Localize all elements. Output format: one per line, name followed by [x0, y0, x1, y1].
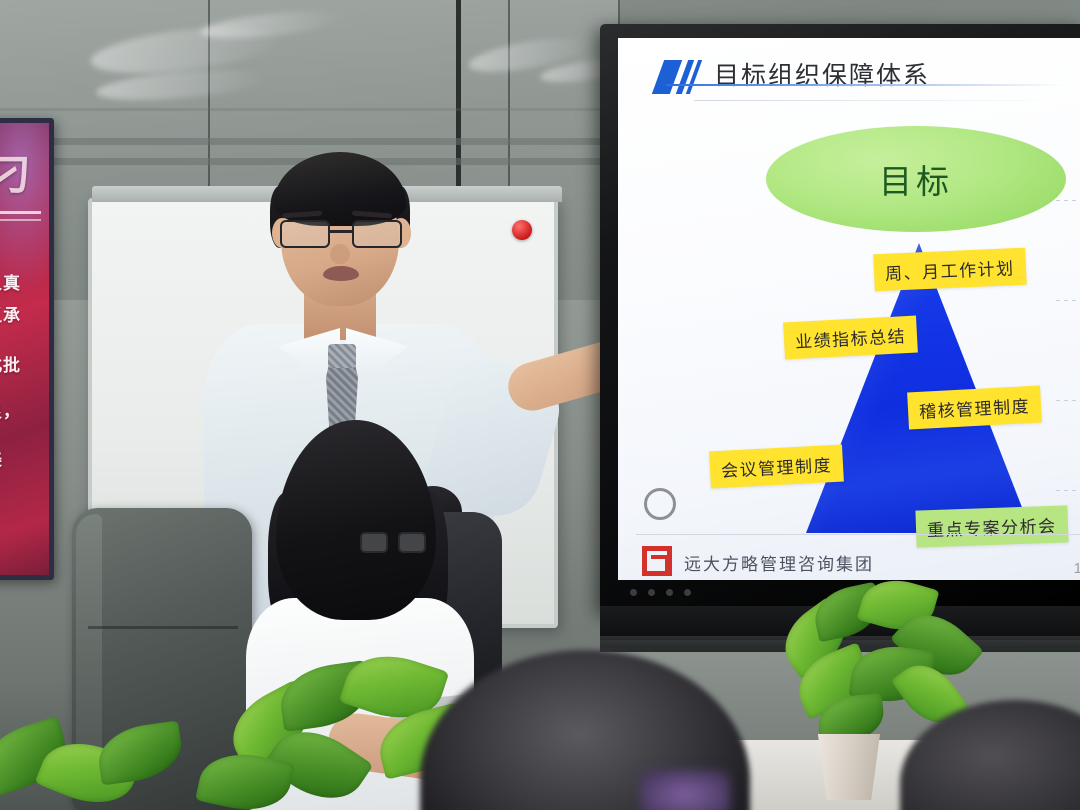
ghost-guide-line: [1056, 490, 1080, 491]
slash-logo-icon: [658, 60, 702, 94]
tag-key-case-analysis-meeting: 重点专案分析会: [915, 505, 1068, 547]
plant-far-left: [0, 722, 180, 810]
eyeglass-lens: [280, 220, 330, 248]
slide-header: 目标组织保障体系: [658, 54, 1068, 106]
presenter-nose: [330, 244, 350, 264]
interactive-smart-display[interactable]: 目标组织保障体系 目标 周、月工作计划 业绩指标总结 稽核管理制度 会议管理制度…: [600, 24, 1080, 612]
ghost-guide-line: [1056, 200, 1080, 201]
chair-seam: [88, 626, 238, 629]
company-name: 远大方略管理咨询集团: [684, 550, 874, 575]
goal-label: 目标: [879, 155, 953, 203]
display-button[interactable]: [666, 589, 673, 596]
eyeglass-lens: [360, 532, 388, 553]
goal-ellipse: 目标: [766, 126, 1066, 232]
display-screen[interactable]: 目标组织保障体系 目标 周、月工作计划 业绩指标总结 稽核管理制度 会议管理制度…: [618, 38, 1080, 580]
eyeglass-lens: [352, 220, 402, 248]
plant-pot: [812, 734, 886, 800]
eyeglass-lens: [398, 532, 426, 553]
display-button[interactable]: [630, 589, 637, 596]
plant-leaf: [95, 720, 186, 785]
title-underline: [666, 84, 1064, 86]
frosted-stripe: [0, 138, 640, 145]
frosted-stripe: [0, 108, 640, 111]
banner-text-line: 美: [0, 445, 3, 470]
footer-divider: [636, 534, 1080, 535]
banner-text-line: 人真: [0, 269, 21, 294]
tag-audit-management-system: 稽核管理制度: [907, 386, 1042, 430]
display-button[interactable]: [648, 589, 655, 596]
slide-title: 目标组织保障体系: [714, 56, 930, 92]
tag-performance-summary: 业绩指标总结: [783, 316, 918, 360]
tag-weekly-monthly-plan: 周、月工作计划: [873, 248, 1026, 292]
circle-outline-icon[interactable]: [644, 488, 676, 520]
red-roll-up-banner: 刁 人真 乏承 北批 良， 美: [0, 118, 54, 580]
woman-eyeglasses: [360, 532, 426, 554]
banner-mark-glyph: 刁: [0, 141, 27, 202]
eyeglass-bridge: [330, 230, 352, 233]
banner-text-line: 良，: [0, 397, 21, 422]
display-control-buttons[interactable]: [630, 589, 691, 596]
banner-divider: [0, 219, 41, 221]
tag-meeting-management-system: 会议管理制度: [709, 445, 844, 489]
woman-hair: [276, 420, 436, 620]
presenter-necktie-knot: [328, 344, 356, 368]
title-underline-secondary: [694, 100, 1066, 101]
presenter-mouth: [323, 266, 359, 281]
training-room-scene: 刁 人真 乏承 北批 良， 美: [0, 0, 1080, 810]
display-button[interactable]: [684, 589, 691, 596]
foreground-purple-blur: [640, 770, 730, 810]
slide-page-number: 1: [1074, 560, 1080, 577]
banner-text-line: 北批: [0, 351, 21, 376]
banner-divider: [0, 211, 41, 214]
ghost-guide-line: [1056, 400, 1080, 401]
banner-text-line: 乏承: [0, 301, 21, 326]
ghost-guide-line: [1056, 300, 1080, 301]
company-logo-icon: [642, 546, 672, 576]
